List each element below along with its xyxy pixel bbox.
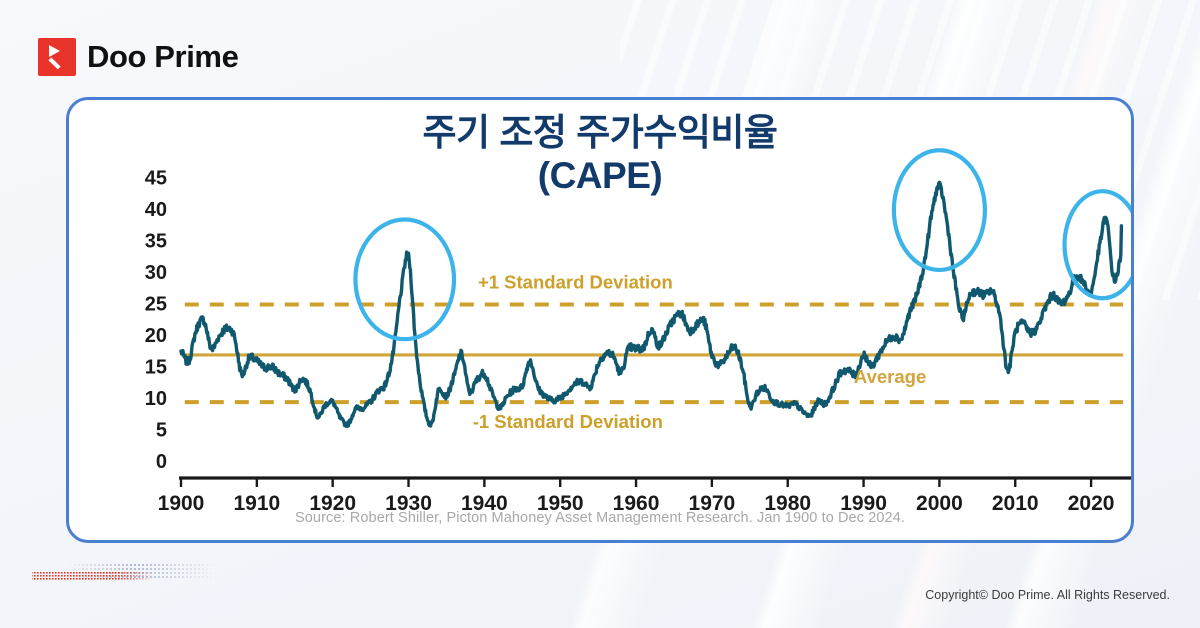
- chart-plot-area: 051015202530354045 190019101920193019401…: [69, 100, 1134, 543]
- y-tick-40: 40: [145, 199, 167, 221]
- highlight-2000-peak: [894, 150, 985, 270]
- y-tick-25: 25: [145, 294, 167, 316]
- cape-line-chart: 051015202530354045 190019101920193019401…: [69, 100, 1134, 543]
- y-tick-5: 5: [156, 420, 167, 442]
- y-tick-15: 15: [145, 357, 167, 379]
- chart-source-note: Source: Robert Shiller, Picton Mahoney A…: [69, 510, 1131, 526]
- chart-card: 주기 조정 주가수익비율 (CAPE) 051015202530354045 1…: [66, 97, 1134, 543]
- highlight-1929-peak: [355, 220, 454, 340]
- reference-label-minus-1-sd: -1 Standard Deviation: [473, 411, 663, 432]
- highlight-annotations: [355, 150, 1134, 339]
- y-axis-tick-labels: 051015202530354045: [145, 168, 167, 473]
- reference-label-average: Average: [854, 366, 926, 387]
- reference-line-labels: +1 Standard DeviationAverage-1 Standard …: [473, 272, 927, 433]
- y-tick-30: 30: [145, 262, 167, 284]
- doo-prime-mark-icon: [38, 38, 76, 76]
- reference-lines: [185, 305, 1123, 403]
- y-tick-45: 45: [145, 168, 167, 190]
- doo-prime-logo[interactable]: Doo Prime: [38, 38, 238, 76]
- y-tick-20: 20: [145, 325, 167, 347]
- reference-label-plus-1-sd: +1 Standard Deviation: [478, 272, 673, 293]
- copyright-text: Copyright© Doo Prime. All Rights Reserve…: [925, 588, 1170, 602]
- x-axis: [179, 478, 1133, 487]
- y-tick-35: 35: [145, 231, 167, 253]
- logo-wordmark: Doo Prime: [87, 39, 238, 75]
- y-tick-10: 10: [145, 388, 167, 410]
- y-tick-0: 0: [156, 451, 167, 473]
- halftone-decoration: [22, 560, 232, 590]
